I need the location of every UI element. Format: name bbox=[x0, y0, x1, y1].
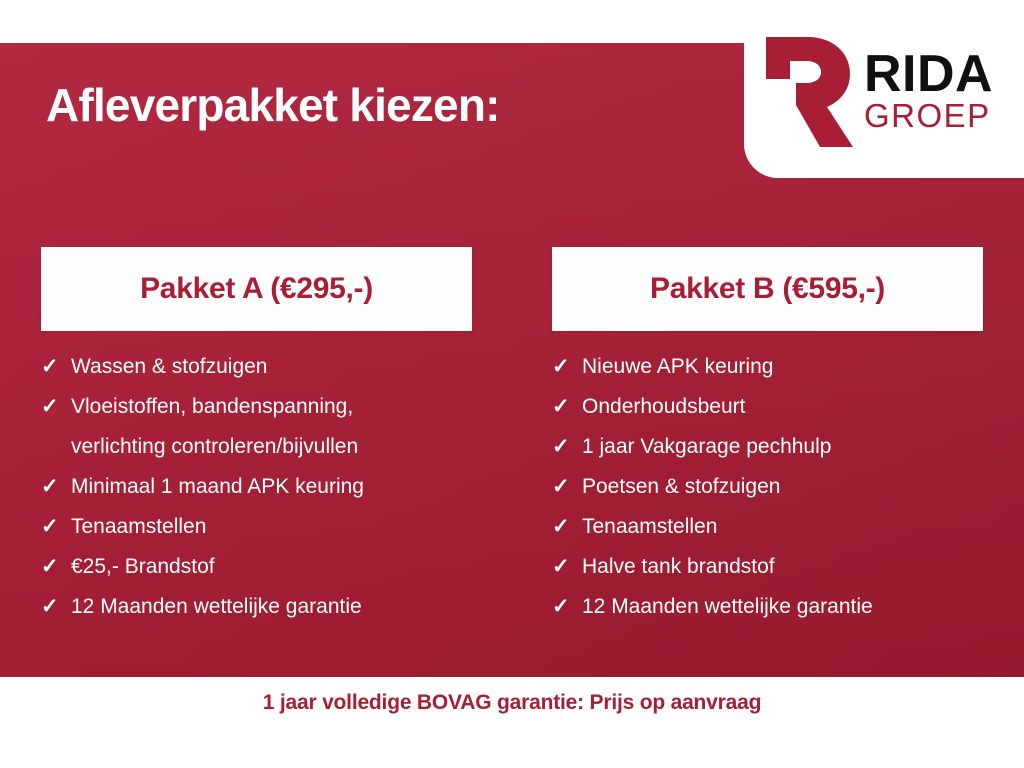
brand-wordmark: RIDA GROEP bbox=[864, 51, 993, 131]
feature-label: €25,- Brandstof bbox=[71, 547, 472, 587]
list-item: ✓ Minimaal 1 maand APK keuring bbox=[41, 467, 472, 507]
feature-label: Tenaamstellen bbox=[582, 507, 983, 547]
package-card-b[interactable]: Pakket B (€595,-) ✓ Nieuwe APK keuring ✓… bbox=[552, 247, 983, 627]
footer-banner: 1 jaar volledige BOVAG garantie: Prijs o… bbox=[0, 677, 1024, 768]
feature-label: Minimaal 1 maand APK keuring bbox=[71, 467, 472, 507]
list-item: ✓ Tenaamstellen bbox=[552, 507, 983, 547]
check-icon: ✓ bbox=[41, 507, 71, 547]
check-icon: ✓ bbox=[552, 387, 582, 427]
feature-label: Poetsen & stofzuigen bbox=[582, 467, 983, 507]
check-icon: ✓ bbox=[41, 467, 71, 507]
brand-name: RIDA bbox=[864, 51, 993, 99]
check-icon: ✓ bbox=[552, 427, 582, 467]
feature-label: Wassen & stofzuigen bbox=[71, 347, 472, 387]
list-item: ✓ Wassen & stofzuigen bbox=[41, 347, 472, 387]
package-a-header[interactable]: Pakket A (€295,-) bbox=[41, 247, 472, 331]
feature-label: 12 Maanden wettelijke garantie bbox=[71, 587, 472, 627]
list-item: ✓ Nieuwe APK keuring bbox=[552, 347, 983, 387]
slide-root: Afleverpakket kiezen: RIDA GROEP Pakket … bbox=[0, 0, 1024, 768]
feature-label: Nieuwe APK keuring bbox=[582, 347, 983, 387]
feature-label: Halve tank brandstof bbox=[582, 547, 983, 587]
check-icon: ✓ bbox=[552, 547, 582, 587]
package-a-title: Pakket A (€295,-) bbox=[140, 272, 373, 306]
feature-label: 1 jaar Vakgarage pechhulp bbox=[582, 427, 983, 467]
check-icon: ✓ bbox=[552, 587, 582, 627]
check-icon: ✓ bbox=[41, 587, 71, 627]
list-item: ✓ Vloeistoffen, bandenspanning, verlicht… bbox=[41, 387, 472, 467]
feature-label: Tenaamstellen bbox=[71, 507, 472, 547]
page-title: Afleverpakket kiezen: bbox=[46, 78, 500, 132]
feature-label: Onderhoudsbeurt bbox=[582, 387, 983, 427]
package-b-header[interactable]: Pakket B (€595,-) bbox=[552, 247, 983, 331]
list-item: ✓ 1 jaar Vakgarage pechhulp bbox=[552, 427, 983, 467]
package-card-a[interactable]: Pakket A (€295,-) ✓ Wassen & stofzuigen … bbox=[41, 247, 472, 627]
package-b-title: Pakket B (€595,-) bbox=[650, 272, 885, 306]
list-item: ✓ €25,- Brandstof bbox=[41, 547, 472, 587]
feature-label: Vloeistoffen, bandenspanning, verlichtin… bbox=[71, 387, 472, 467]
check-icon: ✓ bbox=[552, 507, 582, 547]
list-item: ✓ Halve tank brandstof bbox=[552, 547, 983, 587]
footer-note: 1 jaar volledige BOVAG garantie: Prijs o… bbox=[263, 691, 761, 768]
check-icon: ✓ bbox=[41, 387, 71, 427]
check-icon: ✓ bbox=[552, 467, 582, 507]
list-item: ✓ Poetsen & stofzuigen bbox=[552, 467, 983, 507]
brand-logo: RIDA GROEP bbox=[744, 0, 1024, 178]
list-item: ✓ Onderhoudsbeurt bbox=[552, 387, 983, 427]
check-icon: ✓ bbox=[552, 347, 582, 387]
list-item: ✓ Tenaamstellen bbox=[41, 507, 472, 547]
package-columns: Pakket A (€295,-) ✓ Wassen & stofzuigen … bbox=[41, 247, 983, 627]
feature-label: 12 Maanden wettelijke garantie bbox=[582, 587, 983, 627]
package-b-feature-list: ✓ Nieuwe APK keuring ✓ Onderhoudsbeurt ✓… bbox=[552, 347, 983, 627]
list-item: ✓ 12 Maanden wettelijke garantie bbox=[41, 587, 472, 627]
package-a-feature-list: ✓ Wassen & stofzuigen ✓ Vloeistoffen, ba… bbox=[41, 347, 472, 627]
rida-r-monogram-icon bbox=[758, 33, 854, 151]
check-icon: ✓ bbox=[41, 347, 71, 387]
brand-subname: GROEP bbox=[864, 101, 993, 131]
check-icon: ✓ bbox=[41, 547, 71, 587]
list-item: ✓ 12 Maanden wettelijke garantie bbox=[552, 587, 983, 627]
